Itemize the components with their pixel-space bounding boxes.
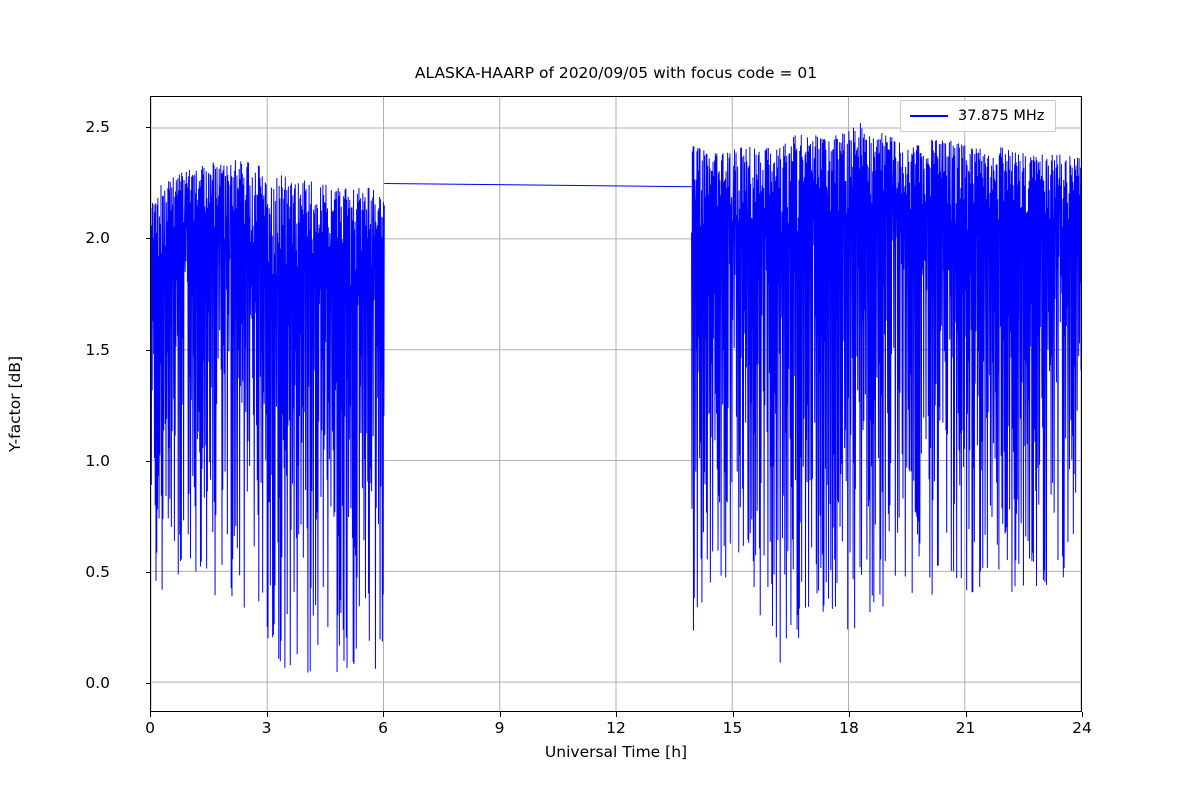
y-tick-mark <box>146 683 151 684</box>
y-tick-label: 2.5 <box>0 118 110 136</box>
y-tick-label: 2.0 <box>0 229 110 247</box>
x-tick-mark <box>966 712 967 717</box>
x-tick-mark <box>267 712 268 717</box>
y-tick-mark <box>146 127 151 128</box>
legend-label-37875: 37.875 MHz <box>958 108 1046 124</box>
y-tick-mark <box>146 350 151 351</box>
y-axis-label-container: Y-factor [dB] <box>0 96 30 712</box>
x-tick-mark <box>616 712 617 717</box>
x-tick-mark <box>733 712 734 717</box>
x-tick-label: 3 <box>227 719 307 737</box>
x-tick-label: 18 <box>809 719 889 737</box>
x-tick-label: 24 <box>1042 719 1122 737</box>
y-tick-mark <box>146 461 151 462</box>
y-tick-label: 0.5 <box>0 563 110 581</box>
y-tick-label: 1.0 <box>0 452 110 470</box>
x-tick-mark <box>1082 712 1083 717</box>
data-line-morning-segment <box>151 160 384 672</box>
legend-box[interactable]: 37.875 MHz <box>900 100 1056 132</box>
x-tick-label: 9 <box>460 719 540 737</box>
chart-title: ALASKA-HAARP of 2020/09/05 with focus co… <box>150 64 1082 82</box>
x-tick-label: 12 <box>576 719 656 737</box>
data-line-afternoon-segment <box>692 123 1081 663</box>
y-tick-label: 1.5 <box>0 341 110 359</box>
data-line-data-gap-interpolation <box>384 183 691 186</box>
x-tick-mark <box>383 712 384 717</box>
x-tick-label: 0 <box>110 719 190 737</box>
x-tick-mark <box>150 712 151 717</box>
x-tick-label: 21 <box>926 719 1006 737</box>
y-tick-mark <box>146 572 151 573</box>
y-tick-mark <box>146 238 151 239</box>
data-series-layer <box>151 97 1081 711</box>
x-tick-mark <box>849 712 850 717</box>
x-tick-label: 6 <box>343 719 423 737</box>
x-axis-label: Universal Time [h] <box>150 743 1082 761</box>
y-tick-label: 0.0 <box>0 674 110 692</box>
y-axis-label: Y-factor [dB] <box>6 356 24 452</box>
legend-line-swatch-37875 <box>910 115 948 117</box>
figure-canvas: ALASKA-HAARP of 2020/09/05 with focus co… <box>0 0 1200 800</box>
plot-area <box>150 96 1082 712</box>
x-tick-mark <box>500 712 501 717</box>
x-tick-label: 15 <box>693 719 773 737</box>
